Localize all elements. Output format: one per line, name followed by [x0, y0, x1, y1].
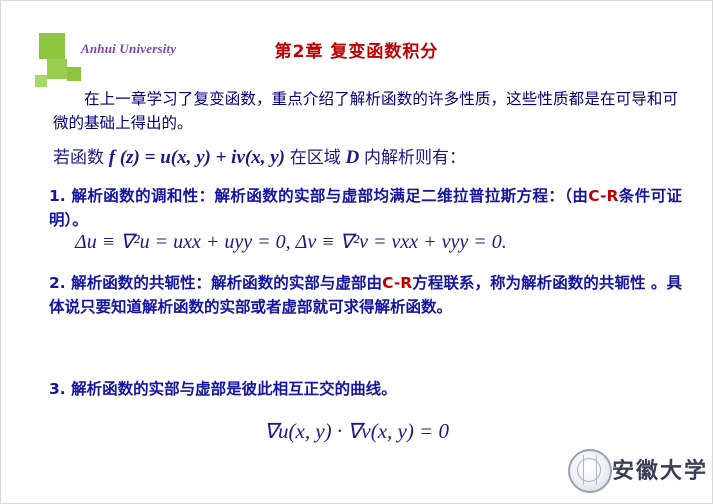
decor-square-4 — [35, 75, 47, 87]
decor-square-3 — [67, 67, 81, 81]
decor-square-2 — [47, 59, 67, 79]
list-item-2: 2. 解析函数的共轭性：解析函数的实部与虚部由C-R方程联系，称为解析函数的共轭… — [49, 271, 682, 319]
list-item-1-number: 1. — [49, 187, 66, 205]
list-item-2-number: 2. — [49, 274, 66, 292]
slide-title: 第2章 复变函数积分 — [1, 37, 712, 62]
list-item-3-number: 3. — [49, 380, 66, 398]
function-line-suffix: 内解析则有： — [364, 148, 466, 168]
laplace-equation: Δu ≡ ∇²u = uxx + uyy = 0, Δv ≡ ∇²v = vxx… — [75, 229, 507, 254]
list-item-3: 3. 解析函数的实部与虚部是彼此相互正交的曲线。 — [49, 377, 682, 401]
university-logo: 安徽大学 — [568, 447, 694, 493]
list-item-1-text-before: 解析函数的调和性：解析函数的实部与虚部均满足二维拉普拉斯方程：（由 — [71, 187, 588, 205]
laplace-equation-text: Δu ≡ ∇²u = uxx + uyy = 0, Δv ≡ ∇²v = vxx… — [75, 231, 507, 253]
list-item-1: 1. 解析函数的调和性：解析函数的实部与虚部均满足二维拉普拉斯方程：（由C-R条… — [49, 184, 682, 232]
function-line-prefix: 若函数 — [53, 148, 104, 168]
list-item-2-highlight: C-R — [382, 274, 412, 292]
logo-name: 安徽大学 — [612, 453, 708, 485]
list-item-1-highlight: C-R — [588, 187, 618, 205]
seal-icon — [568, 449, 612, 493]
intro-paragraph: 在上一章学习了复变函数，重点介绍了解析函数的许多性质，这些性质都是在可导和可微的… — [53, 87, 678, 135]
slide-canvas: Anhui University 第2章 复变函数积分 在上一章学习了复变函数，… — [0, 0, 713, 504]
orthogonal-equation: ∇u(x, y) · ∇v(x, y) = 0 — [1, 419, 712, 444]
list-item-3-text-before: 解析函数的实部与虚部是彼此相互正交的曲线。 — [71, 380, 397, 398]
orthogonal-equation-text: ∇u(x, y) · ∇v(x, y) = 0 — [264, 419, 449, 443]
list-item-2-text-before: 解析函数的共轭性：解析函数的实部与虚部由 — [71, 274, 382, 292]
function-line-domain: D — [345, 147, 359, 168]
function-line-middle: 在区域 — [290, 148, 341, 168]
function-line-formula: f (z) = u(x, y) + iv(x, y) — [109, 147, 285, 168]
function-definition-line: 若函数 f (z) = u(x, y) + iv(x, y) 在区域 D 内解析… — [53, 143, 678, 169]
